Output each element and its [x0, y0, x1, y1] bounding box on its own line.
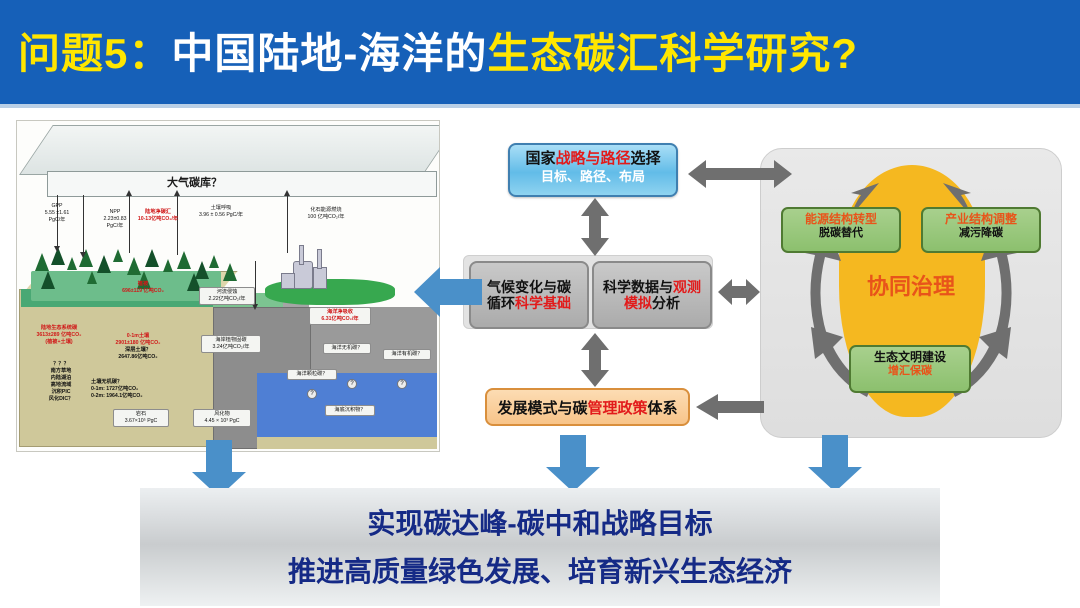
- tree-icon: [223, 263, 237, 281]
- question-marker-icon: ?: [347, 379, 357, 389]
- factory-icon: [281, 273, 295, 289]
- arrow-science-to-diagram-icon: [412, 265, 484, 325]
- slide-root: 问题5：中国陆地-海洋的生态碳汇科学研究? 大气碳库？: [0, 0, 1080, 608]
- climate-carbon-cycle-box[interactable]: 气候变化与碳 循环科学基础: [469, 261, 589, 329]
- label-net-land-sink: 陆地净碳汇 10-13亿吨CO₂/年: [129, 209, 187, 223]
- scientific-data-text: 科学数据与观测 模拟分析: [603, 279, 701, 311]
- ecological-civilization-title: 生态文明建设: [851, 351, 969, 365]
- energy-structure-subtitle: 脱碳替代: [783, 227, 899, 240]
- flux-arrow-npp: [83, 195, 84, 253]
- label-soil-pool: 0-1m土壤 2901±180 亿吨CO₂ 深层土壤？ 2647.86亿吨CO₂: [95, 333, 181, 361]
- title-part-subject: 中国陆地-海洋的: [171, 30, 487, 77]
- page-title: 问题5：中国陆地-海洋的生态碳汇科学研究?: [18, 24, 1062, 84]
- tree-icon: [41, 271, 55, 289]
- science-basis-group: 气候变化与碳 循环科学基础 科学数据与观测 模拟分析: [463, 255, 713, 329]
- tree-icon: [35, 253, 49, 271]
- label-fossil-fuel: 化石能源燃烧 100 亿吨CO₂/年: [295, 207, 357, 221]
- factory-chimney-icon: [299, 245, 304, 265]
- goal-banner-line2: 推进高质量绿色发展、培育新兴生态经济: [140, 550, 940, 590]
- climate-carbon-cycle-text: 气候变化与碳 循环科学基础: [487, 279, 571, 311]
- energy-structure-title: 能源结构转型: [783, 213, 899, 227]
- energy-structure-box[interactable]: 能源结构转型 脱碳替代: [781, 207, 901, 253]
- ecological-civilization-subtitle: 增汇保碳: [851, 365, 969, 378]
- ocean-floor: [257, 437, 437, 449]
- label-ocean-particulate-carbon: 海洋颗粒碳？: [287, 369, 337, 380]
- industrial-structure-box[interactable]: 产业结构调整 减污降碳: [921, 207, 1041, 253]
- label-soil-respiration: 土壤呼吸 3.96 ± 0.56 PgC/年: [185, 205, 257, 219]
- arrow-science-cycle-icon: [716, 276, 762, 308]
- factory-icon: [313, 267, 327, 289]
- arrow-down-centre-icon: [542, 435, 604, 493]
- factory-icon: [293, 261, 313, 289]
- label-soil-inorganic: 土壤无机碳？ 0-1m: 1727亿吨CO₂ 0-2m: 1964.1亿吨CO₂: [91, 379, 187, 400]
- goal-banner: 实现碳达峰-碳中和战略目标 推进高质量绿色发展、培育新兴生态经济: [140, 488, 940, 606]
- atmosphere-slab-top: [19, 125, 440, 175]
- atmosphere-label: 大气碳库？: [167, 174, 222, 190]
- national-strategy-title: 国家战略与路径选择: [510, 151, 676, 168]
- label-vegetation: 植被 696±119 亿吨CO₂: [107, 281, 179, 295]
- factory-chimney-icon: [317, 249, 322, 269]
- question-marker-icon: ?: [397, 379, 407, 389]
- land-ocean-carbon-diagram: 大气碳库？: [16, 120, 440, 452]
- scientific-data-box[interactable]: 科学数据与观测 模拟分析: [592, 261, 712, 329]
- synergy-governance-panel: 协同治理 能源结构转型 脱碳替代 产业结构调整 减污降碳 生态文明建设 增汇保碳: [760, 148, 1062, 438]
- label-rock: 岩石 3.67×10⁵ PgC: [113, 409, 169, 427]
- label-ocean-uptake: 海洋净吸收 6.31亿吨CO₂/年: [309, 307, 371, 325]
- label-seabed-sediment: 海底沉积物？: [325, 405, 375, 416]
- label-gpp: GPP 5.55 ±1.61 PgC/年: [31, 203, 83, 224]
- national-strategy-box[interactable]: 国家战略与路径选择 目标、路径、布局: [508, 143, 678, 197]
- title-part-question: 问题5：: [18, 30, 171, 77]
- policy-system-text: 发展模式与碳管理政策体系: [497, 397, 677, 418]
- industrial-structure-title: 产业结构调整: [923, 213, 1039, 227]
- tree-icon: [87, 271, 97, 284]
- arrow-down-right-icon: [804, 435, 866, 493]
- tree-icon: [97, 255, 111, 273]
- title-part-highlight: 生态碳汇科学研究?: [487, 30, 858, 77]
- flux-arrow-ocean-uptake: [255, 261, 256, 305]
- tree-icon: [145, 249, 159, 267]
- arrow-strategy-cycle-icon: [686, 157, 794, 191]
- tree-icon: [177, 251, 191, 269]
- header-divider: [0, 104, 1080, 108]
- synergy-governance-label: 协同治理: [761, 269, 1061, 301]
- tree-icon: [67, 257, 77, 270]
- national-strategy-subtitle: 目标、路径、布局: [510, 170, 676, 184]
- label-river-export: 河流侵蚀 2.22亿吨CO₂/年: [199, 287, 255, 305]
- goal-banner-line1: 实现碳达峰-碳中和战略目标: [140, 502, 940, 542]
- flux-arrow-fossil-fuel: [287, 195, 288, 253]
- label-ocean-inorganic-carbon: 海洋无机碳？: [323, 343, 371, 354]
- label-terrestrial-pool: 陆地生态系统碳 3613±289 亿吨CO₂ (植被+土壤): [21, 325, 97, 346]
- arrow-cycle-to-policy-icon: [694, 393, 766, 421]
- tree-icon: [163, 259, 173, 272]
- arrow-science-policy-icon: [578, 331, 612, 389]
- label-ocean-organic-carbon: 海洋有机碳？: [383, 349, 431, 360]
- tree-icon: [113, 249, 123, 262]
- flux-arrow-soil-respiration: [177, 195, 178, 255]
- label-left-unknown-list: ？？？ 南方草地 内陆湖泊 高地流域 沉积PIC 风化DIC？: [35, 361, 87, 403]
- arrow-strategy-science-icon: [578, 196, 612, 258]
- label-coastal-plants: 海岸植物固碳 3.24亿吨CO₂/年: [201, 335, 261, 353]
- tree-icon: [209, 255, 219, 268]
- question-marker-icon: ?: [307, 389, 317, 399]
- atmosphere-box: [47, 171, 437, 197]
- label-weathering: 风化物 4.45 × 10³ PgC: [193, 409, 251, 427]
- industrial-structure-subtitle: 减污降碳: [923, 227, 1039, 240]
- ecological-civilization-box[interactable]: 生态文明建设 增汇保碳: [849, 345, 971, 393]
- policy-system-box[interactable]: 发展模式与碳管理政策体系: [485, 388, 690, 426]
